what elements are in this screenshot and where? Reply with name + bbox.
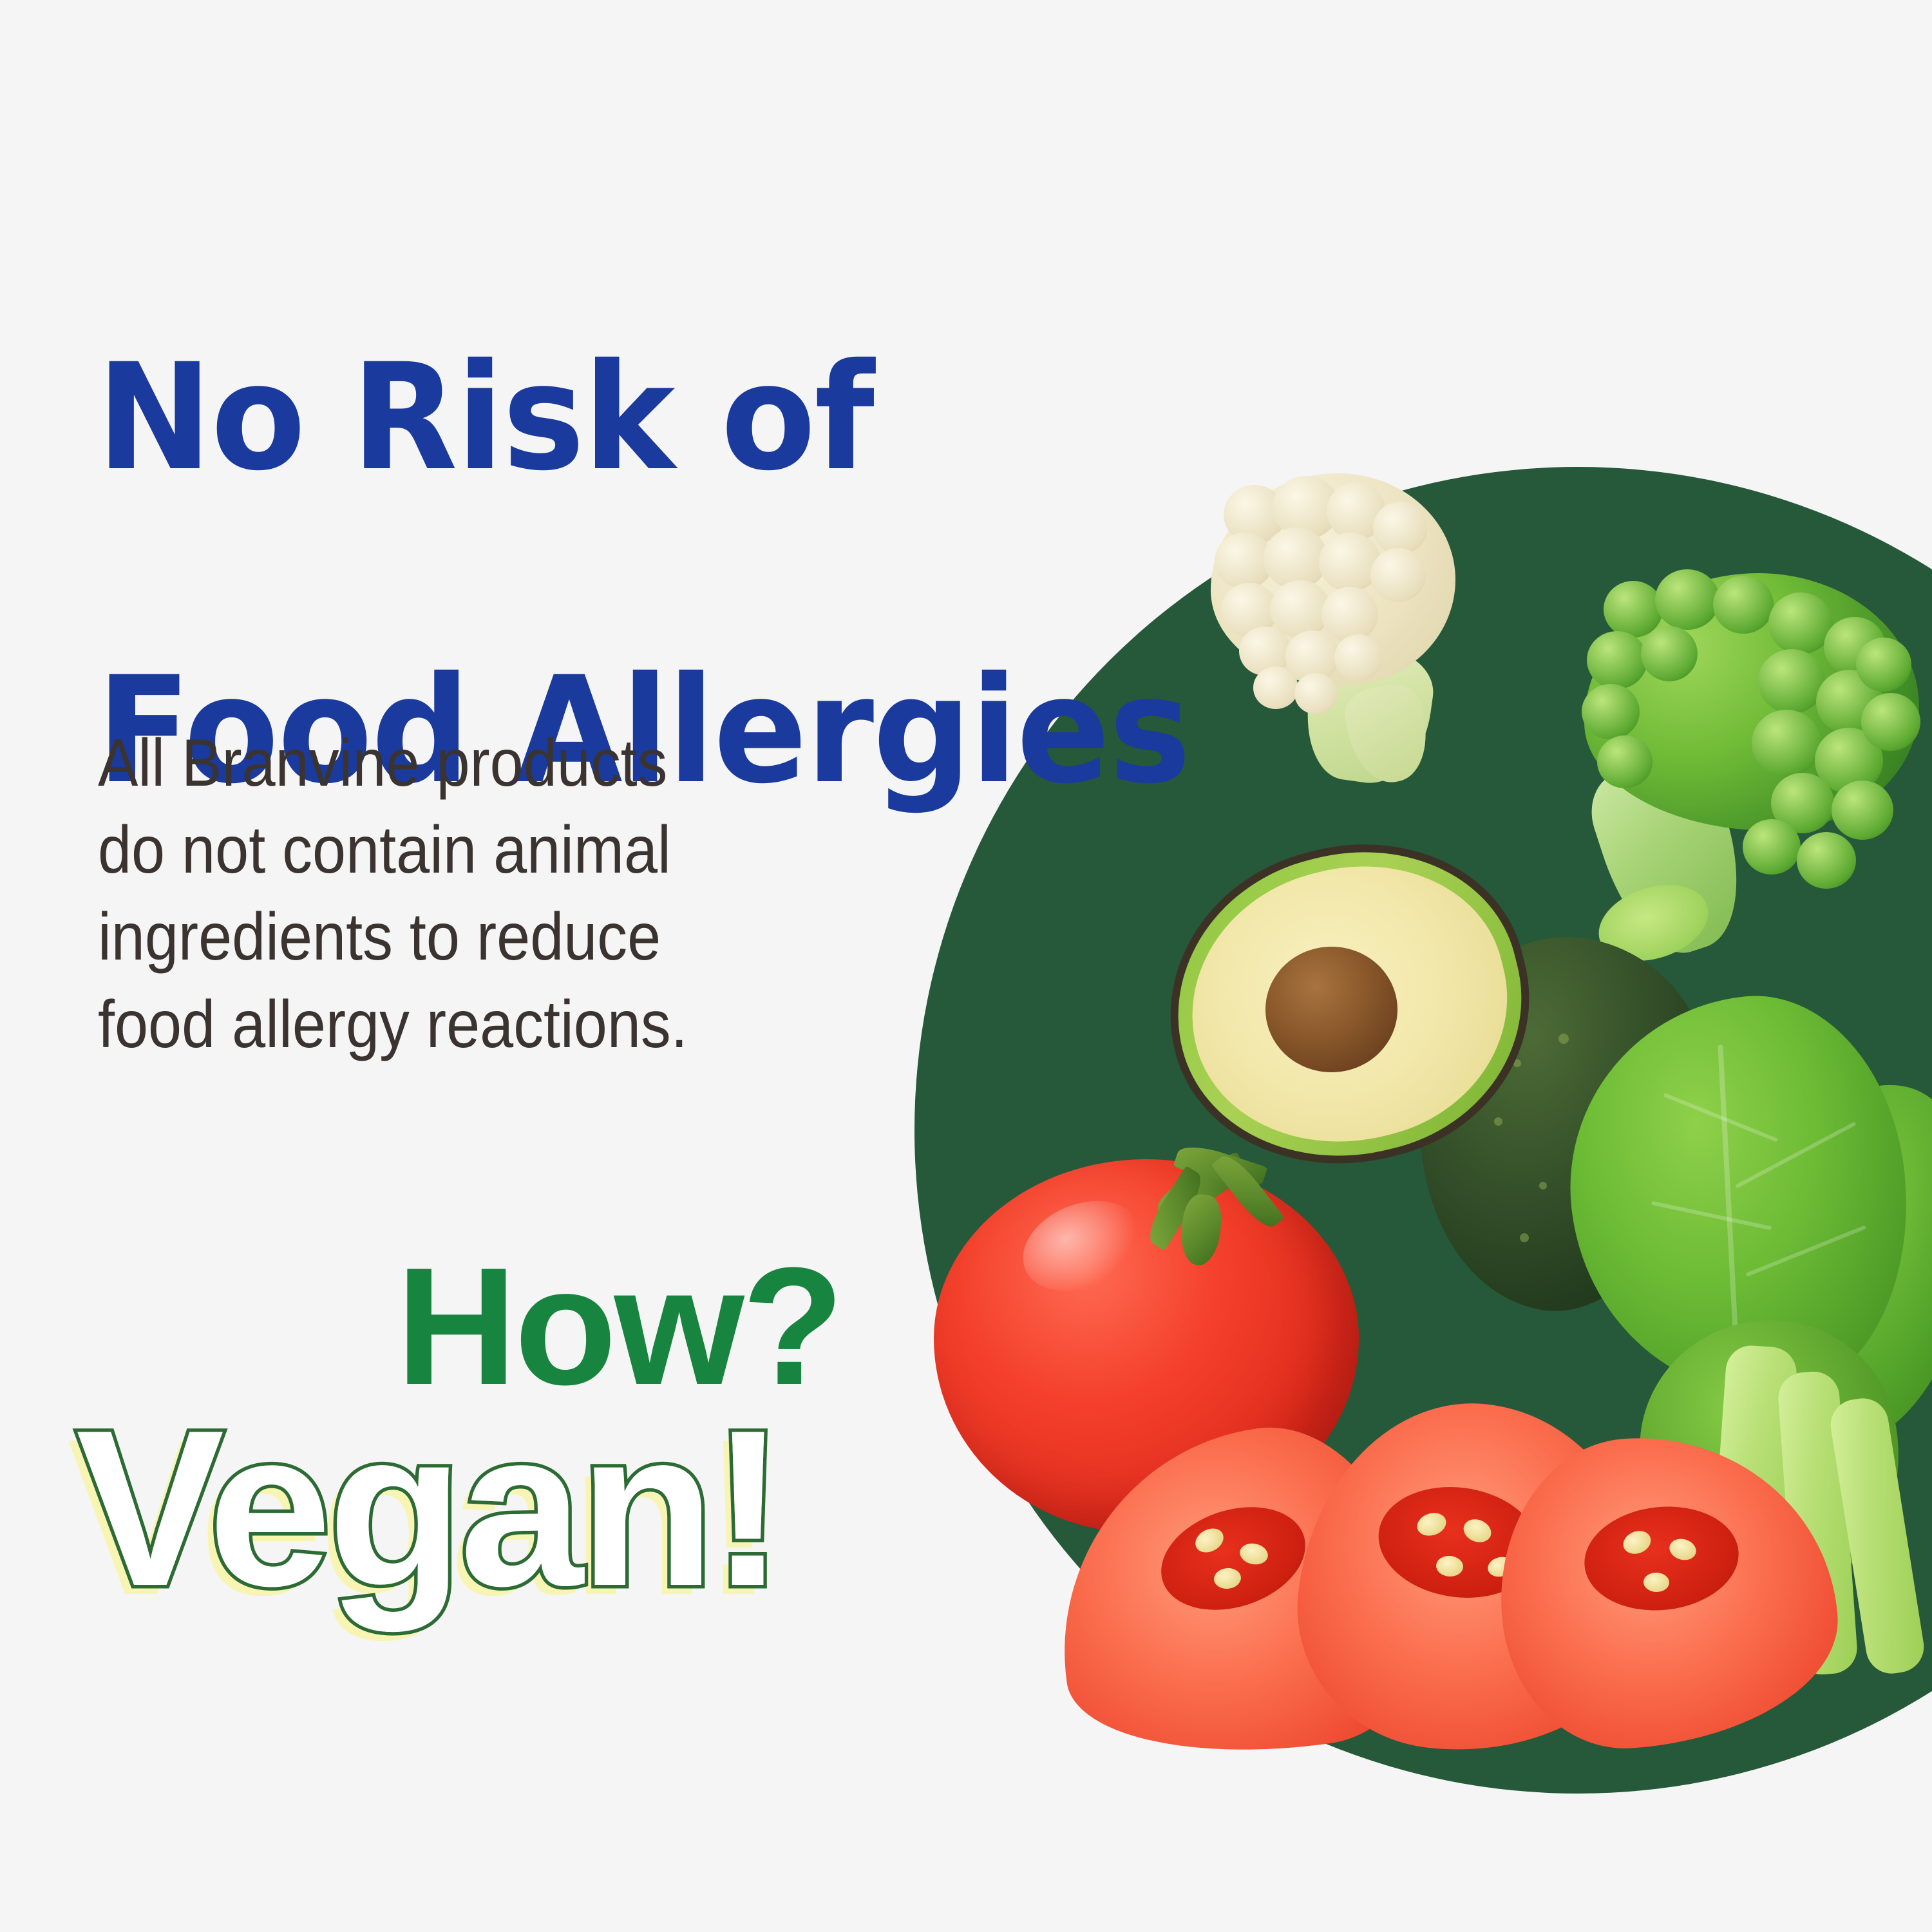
broccoli-image <box>1558 567 1932 966</box>
tomato-wedge-2 <box>1301 1404 1649 1752</box>
vegan-answer-text: Vegan! Vegan! Vegan! <box>76 1397 781 1620</box>
body-line-2: do not contain animal <box>98 807 909 894</box>
tomato-wedge-1 <box>1056 1433 1417 1755</box>
avocado-whole-image <box>1417 937 1707 1311</box>
body-line-3: ingredients to reduce <box>98 894 909 981</box>
tomato-stem <box>1114 1133 1307 1262</box>
poster-canvas: No Risk of Food Allergies All Branvine p… <box>0 0 1932 1932</box>
bok-choy-image <box>1565 985 1932 1694</box>
body-line-1: All Branvine products <box>98 720 909 807</box>
tomato-wedge-3 <box>1501 1436 1835 1745</box>
tomato-whole-image <box>934 1133 1359 1546</box>
headline-line-1: No Risk of <box>97 347 1307 488</box>
vegan-text-fill: Vegan! <box>76 1385 781 1633</box>
body-paragraph: All Branvine products do not contain ani… <box>98 720 909 1068</box>
body-line-4: food allergy reactions. <box>98 981 909 1068</box>
